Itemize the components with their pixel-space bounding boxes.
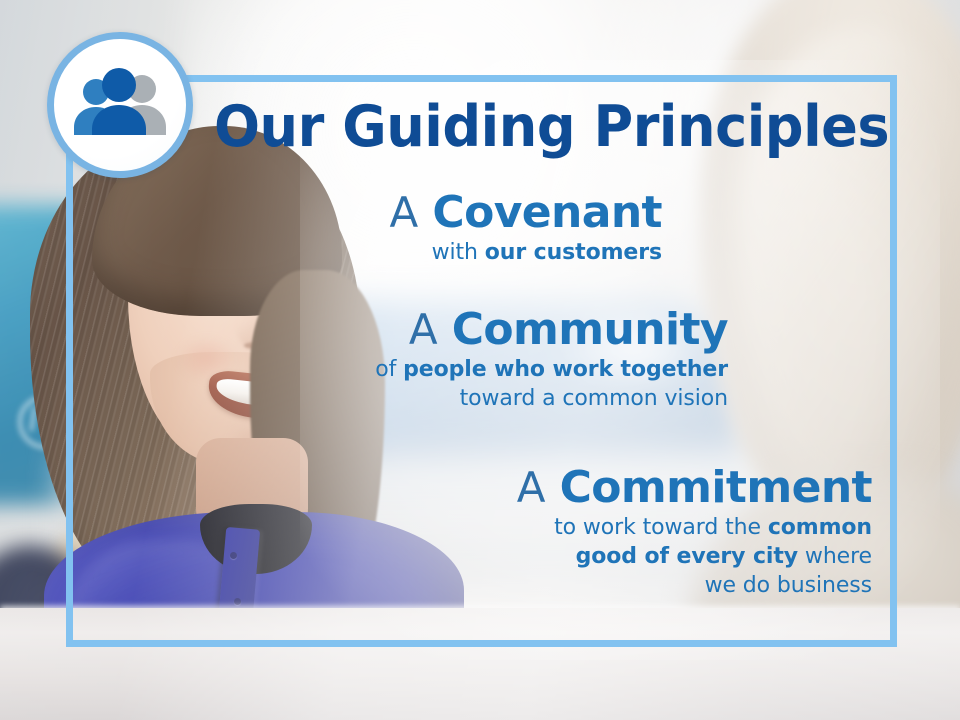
sub-3-line3: we do business	[705, 573, 872, 598]
keyword-covenant: Covenant	[432, 187, 662, 238]
principle-community-subtext: of people who work together toward a com…	[375, 355, 728, 413]
keyword-commitment: Commitment	[560, 462, 872, 513]
shirt-button-bottom	[234, 598, 241, 605]
sub-2-bold: people who work together	[403, 357, 728, 382]
keyword-community: Community	[452, 304, 728, 355]
sub-1-bold: our customers	[485, 240, 662, 265]
principle-community-heading: A Community	[375, 305, 728, 355]
sub-3-prefix: to work toward the	[554, 515, 768, 540]
principle-community: A Community of people who work together …	[375, 305, 728, 413]
principle-covenant: A Covenant with our customers	[390, 188, 662, 267]
article-1: A	[390, 188, 418, 237]
principle-covenant-subtext: with our customers	[390, 238, 662, 267]
sub-1-prefix: with	[432, 240, 485, 265]
sub-3-line2-suffix: where	[798, 544, 872, 569]
people-group-glyph	[68, 66, 172, 144]
page-title: Our Guiding Principles	[214, 96, 841, 158]
principle-commitment-heading: A Commitment	[517, 463, 872, 513]
shirt-button-top	[230, 552, 237, 559]
poster-canvas: FLOW FLOW	[0, 0, 960, 720]
sub-3-line2-bold: good of every city	[576, 544, 798, 569]
principle-commitment-subtext: to work toward the common good of every …	[517, 513, 872, 600]
principle-covenant-heading: A Covenant	[390, 188, 662, 238]
people-group-icon	[47, 32, 193, 178]
white-desk	[0, 608, 960, 720]
article-3: A	[517, 463, 545, 512]
sub-2-prefix: of	[375, 357, 403, 382]
article-2: A	[409, 305, 437, 354]
sub-2-line2: toward a common vision	[460, 386, 728, 411]
principle-commitment: A Commitment to work toward the common g…	[517, 463, 872, 600]
sub-3-bold: common	[768, 515, 872, 540]
